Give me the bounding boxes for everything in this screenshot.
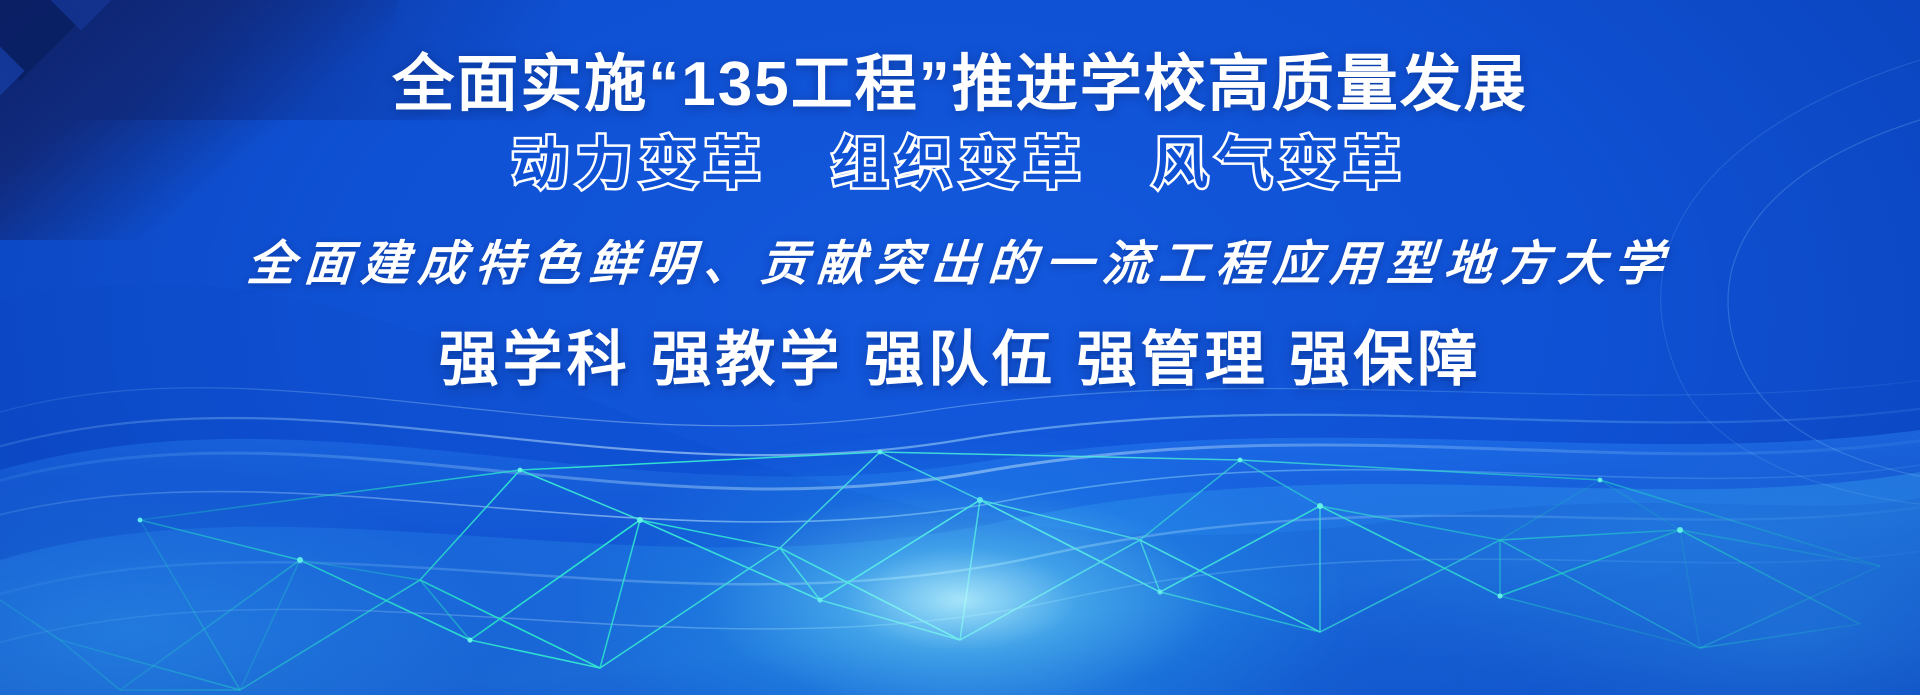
headline-text: 全面实施“135工程”推进学校高质量发展 (392, 52, 1527, 119)
campus-slogan-banner: 全面实施“135工程”推进学校高质量发展 动力变革 组织变革 风气变革 全面建成… (0, 0, 1920, 695)
vision-statement-text: 全面建成特色鲜明、贡献突出的一流工程应用型地方大学 (246, 239, 1675, 292)
five-pillars-text: 强学科 强教学 强队伍 强管理 强保障 (439, 327, 1482, 393)
slogan-text-block: 全面实施“135工程”推进学校高质量发展 动力变革 组织变革 风气变革 全面建成… (0, 0, 1920, 695)
reform-subheadline-text: 动力变革 组织变革 风气变革 (512, 133, 1408, 195)
